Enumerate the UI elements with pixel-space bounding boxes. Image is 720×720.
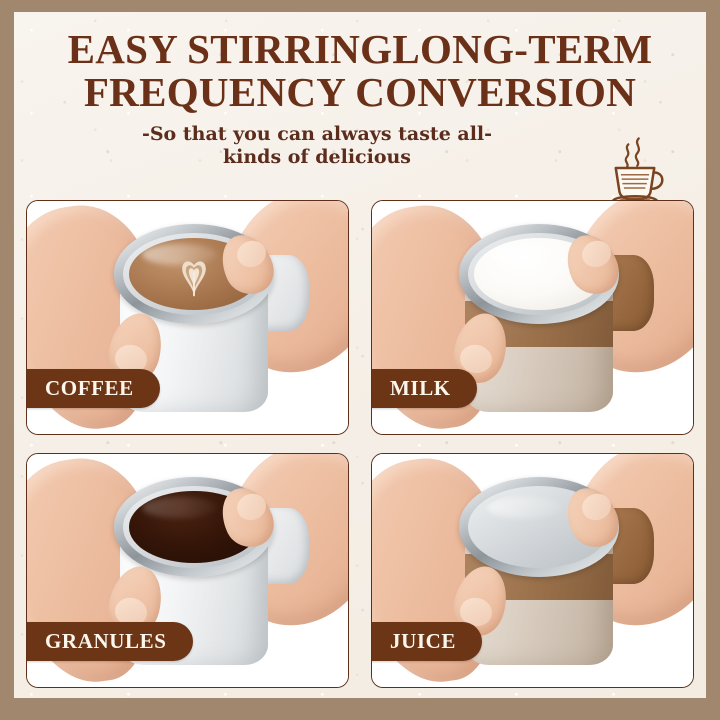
- page-title: EASY STIRRINGLONG-TERM FREQUENCY CONVERS…: [24, 28, 696, 113]
- panel-label-badge: JUICE: [371, 622, 482, 661]
- demo-panel-juice[interactable]: JUICE: [371, 453, 694, 688]
- poster-paper: EASY STIRRINGLONG-TERM FREQUENCY CONVERS…: [14, 12, 706, 698]
- panel-label-badge: MILK: [371, 369, 477, 408]
- panel-label-badge: GRANULES: [26, 622, 193, 661]
- page-subtitle: -So that you can always taste all- kinds…: [24, 123, 696, 169]
- product-demo-grid: COFFEE: [26, 200, 694, 688]
- coffee-cup-icon: [598, 134, 672, 208]
- demo-panel-milk[interactable]: MILK: [371, 200, 694, 435]
- demo-panel-coffee[interactable]: COFFEE: [26, 200, 349, 435]
- demo-panel-granules[interactable]: GRANULES: [26, 453, 349, 688]
- poster-frame: EASY STIRRINGLONG-TERM FREQUENCY CONVERS…: [0, 0, 720, 720]
- panel-label-badge: COFFEE: [26, 369, 160, 408]
- latte-art-heart-icon: [159, 254, 229, 298]
